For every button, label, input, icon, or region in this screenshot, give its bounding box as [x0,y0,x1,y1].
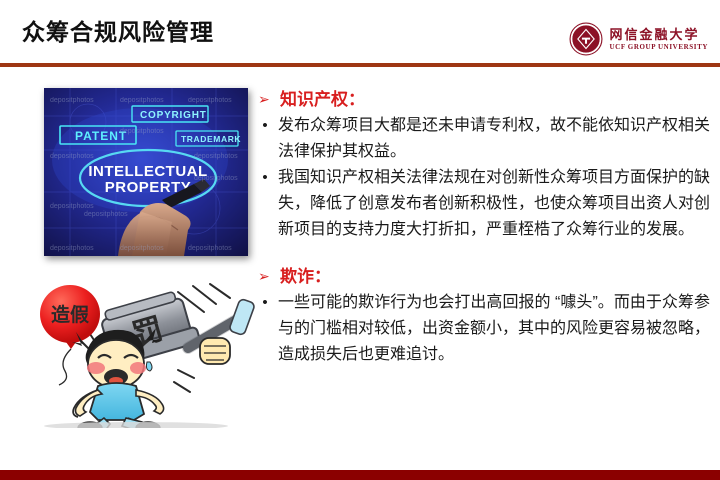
dot-bullet-icon: • [258,165,272,191]
bullet-text: 发布众筹项目大都是还未申请专利权，故不能依知识产权相关法律保护其权益。 [278,113,710,165]
svg-text:COPYRIGHT: COPYRIGHT [140,110,207,121]
svg-text:造假: 造假 [51,303,89,326]
svg-text:depositphotos: depositphotos [50,203,94,210]
logo-english-name: UCF GROUP UNIVERSITY [610,44,708,51]
svg-text:depositphotos: depositphotos [120,128,164,135]
ucf-seal-icon [569,22,603,56]
svg-text:INTELLECTUAL: INTELLECTUAL [88,163,207,180]
section-heading: 欺诈： [280,265,331,288]
fraud-cartoon-image: 造假 罚 [28,278,260,428]
section-heading-row: ➢ 欺诈： [258,265,710,288]
svg-text:TRADEMARK: TRADEMARK [181,134,241,144]
svg-text:depositphotos: depositphotos [50,245,94,252]
svg-text:depositphotos: depositphotos [120,97,164,104]
brand-logo: 网信金融大学 UCF GROUP UNIVERSITY [569,22,708,56]
svg-text:depositphotos: depositphotos [50,153,94,160]
bullet-item: • 一些可能的欺诈行为也会打出高回报的 “噱头”。而由于众筹参与的门槛相对较低，… [258,290,710,368]
bullet-item: • 我国知识产权相关法律法规在对创新性众筹项目方面保护的缺失，降低了创意发布者创… [258,165,710,243]
svg-text:depositphotos: depositphotos [194,153,238,160]
bullet-text: 一些可能的欺诈行为也会打出高回报的 “噱头”。而由于众筹参与的门槛相对较低，出资… [278,290,710,368]
bullet-item: • 发布众筹项目大都是还未申请专利权，故不能依知识产权相关法律保护其权益。 [258,113,710,165]
svg-text:depositphotos: depositphotos [84,211,128,218]
intellectual-property-image: PATENT COPYRIGHT TRADEMARK INTELLECTUAL … [44,88,248,256]
section-intellectual-property: ➢ 知识产权： • 发布众筹项目大都是还未申请专利权，故不能依知识产权相关法律保… [258,88,710,243]
footer-bar [0,470,720,480]
section-heading-row: ➢ 知识产权： [258,88,710,111]
bullet-text: 我国知识产权相关法律法规在对创新性众筹项目方面保护的缺失，降低了创意发布者创新积… [278,165,710,243]
arrow-bullet-icon: ➢ [258,265,272,288]
svg-text:depositphotos: depositphotos [194,175,238,182]
svg-text:depositphotos: depositphotos [120,245,164,252]
dot-bullet-icon: • [258,113,272,139]
section-fraud: ➢ 欺诈： • 一些可能的欺诈行为也会打出高回报的 “噱头”。而由于众筹参与的门… [258,265,710,368]
slide-body: ➢ 知识产权： • 发布众筹项目大都是还未申请专利权，故不能依知识产权相关法律保… [258,88,710,378]
logo-chinese-name: 网信金融大学 [610,28,708,41]
svg-text:depositphotos: depositphotos [188,245,232,252]
section-heading: 知识产权： [280,88,365,111]
slide-canvas: 众筹合规风险管理 网信金融大学 UCF GROUP UNIVERSITY [0,0,720,480]
header-divider [0,63,720,67]
arrow-bullet-icon: ➢ [258,88,272,111]
dot-bullet-icon: • [258,290,272,316]
page-title: 众筹合规风险管理 [22,18,214,48]
svg-text:depositphotos: depositphotos [188,97,232,104]
svg-text:depositphotos: depositphotos [50,97,94,104]
